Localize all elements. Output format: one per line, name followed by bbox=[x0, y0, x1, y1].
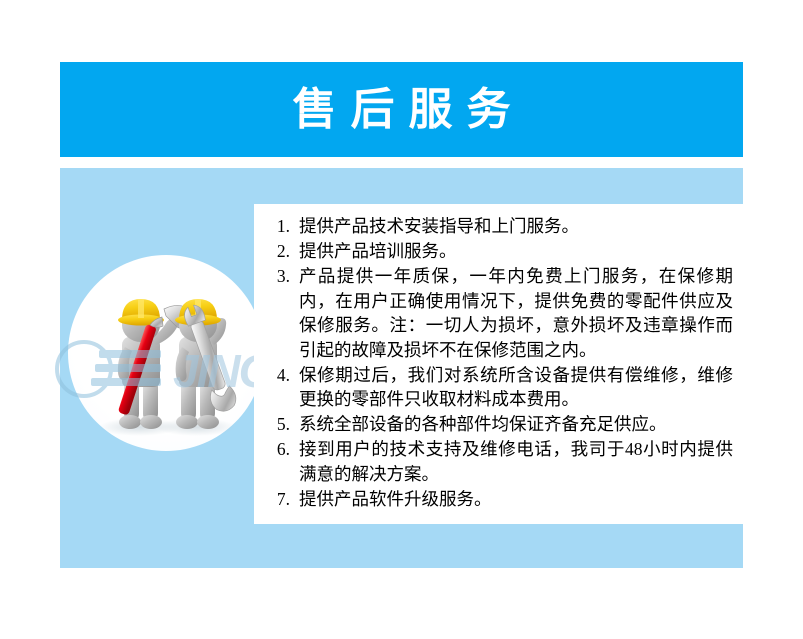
list-item-number: 1. bbox=[254, 214, 299, 239]
list-item-number: 3. bbox=[254, 264, 299, 289]
page-title: 售后服务 bbox=[279, 88, 525, 132]
list-item: 5. 系统全部设备的各种部件均保证齐备充足供应。 bbox=[254, 412, 733, 437]
list-item: 3. 产品提供一年质保，一年内免费上门服务，在保修期内，在用户正确使用情况下，提… bbox=[254, 264, 733, 362]
list-item-number: 5. bbox=[254, 412, 299, 437]
list-item: 4. 保修期过后，我们对系统所含设备提供有偿维修，维修更换的零部件只收取材料成本… bbox=[254, 363, 733, 412]
list-item: 7. 提供产品软件升级服务。 bbox=[254, 487, 733, 512]
list-item-number: 7. bbox=[254, 487, 299, 512]
title-banner: 售后服务 bbox=[60, 62, 743, 157]
list-item: 2. 提供产品培训服务。 bbox=[254, 239, 733, 264]
list-item-text: 接到用户的技术支持及维修电话，我司于48小时内提供满意的解决方案。 bbox=[299, 437, 733, 486]
list-item-text: 提供产品培训服务。 bbox=[299, 239, 733, 264]
list-item: 1. 提供产品技术安装指导和上门服务。 bbox=[254, 214, 733, 239]
list-item: 6. 接到用户的技术支持及维修电话，我司于48小时内提供满意的解决方案。 bbox=[254, 437, 733, 486]
list-item-number: 6. bbox=[254, 437, 299, 462]
list-item-number: 4. bbox=[254, 363, 299, 388]
list-item-number: 2. bbox=[254, 239, 299, 264]
two-workers-with-tools-icon bbox=[84, 277, 254, 442]
list-item-text: 提供产品软件升级服务。 bbox=[299, 487, 733, 512]
list-item-text: 产品提供一年质保，一年内免费上门服务，在保修期内，在用户正确使用情况下，提供免费… bbox=[299, 264, 733, 362]
list-item-text: 保修期过后，我们对系统所含设备提供有偿维修，维修更换的零部件只收取材料成本费用。 bbox=[299, 363, 733, 412]
list-item-text: 提供产品技术安装指导和上门服务。 bbox=[299, 214, 733, 239]
service-list: 1. 提供产品技术安装指导和上门服务。 2. 提供产品培训服务。 3. 产品提供… bbox=[254, 204, 743, 511]
content-card: 1. 提供产品技术安装指导和上门服务。 2. 提供产品培训服务。 3. 产品提供… bbox=[254, 204, 743, 524]
list-item-text: 系统全部设备的各种部件均保证齐备充足供应。 bbox=[299, 412, 733, 437]
illustration-container bbox=[68, 255, 268, 455]
